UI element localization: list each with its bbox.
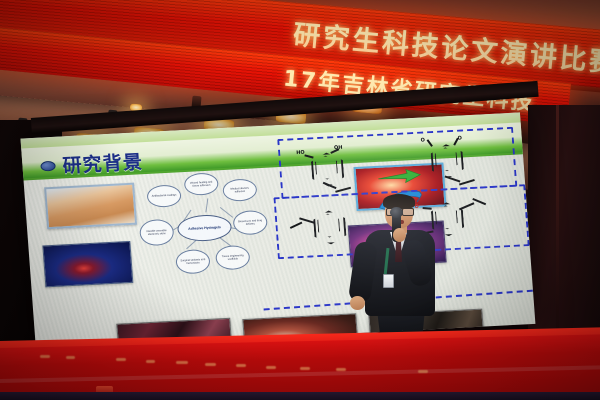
bullet-icon — [40, 160, 56, 171]
xray-imaging-photo — [42, 241, 133, 287]
floor-reflection — [236, 364, 246, 367]
diagram-bubble: Surgical sealants and hemostasis — [175, 249, 211, 275]
skin-tissue-photo — [44, 183, 137, 230]
floor-reflection — [418, 370, 428, 373]
floor-reflection — [300, 367, 310, 370]
diagram-bubble: Medical devices adhesion — [222, 178, 258, 202]
floor-reflection — [176, 361, 188, 364]
presenter-hand-left — [350, 296, 365, 310]
microphone-head — [390, 207, 403, 218]
floor-reflection — [336, 368, 346, 371]
presentation-photo-scene: 研究生科技论文演讲比赛 17年吉林省研究生科技 研究背景 — [0, 0, 600, 400]
diagram-bubble: Wound healing and tissue adhesion — [184, 172, 220, 196]
floor-reflection — [205, 363, 216, 366]
diagram-bubble: Tissue engineering scaffolds — [215, 245, 251, 271]
presenter-hand-right — [393, 228, 406, 242]
green-arrow-icon — [377, 168, 422, 186]
stage-base-shadow — [0, 392, 600, 400]
floor-reflection — [116, 358, 126, 361]
presenter-badge — [383, 274, 394, 288]
adhesive-hydrogels-diagram: Wound healing and tissue adhesion Medica… — [136, 170, 272, 284]
diagram-bubble: Biosensors and drug delivery — [232, 210, 268, 236]
chem-label-O: O — [420, 137, 425, 143]
floor-reflection — [146, 360, 155, 363]
slide-surface: 研究背景 Wound healing and tissue adhe — [20, 112, 535, 350]
projection-screen: 研究背景 Wound healing and tissue adhe — [20, 112, 535, 350]
diagram-bubble: Flexible wearable electronic skins — [139, 219, 175, 247]
slide-title: 研究背景 — [62, 147, 144, 178]
floor-reflection — [40, 355, 50, 358]
diagram-bubble: Antibacterial coatings — [146, 184, 182, 208]
wall-seam — [556, 105, 559, 355]
floor-reflection — [266, 366, 276, 369]
slide-body: Wound healing and tissue adhesion Medica… — [24, 154, 536, 350]
floor-reflection — [66, 356, 75, 359]
